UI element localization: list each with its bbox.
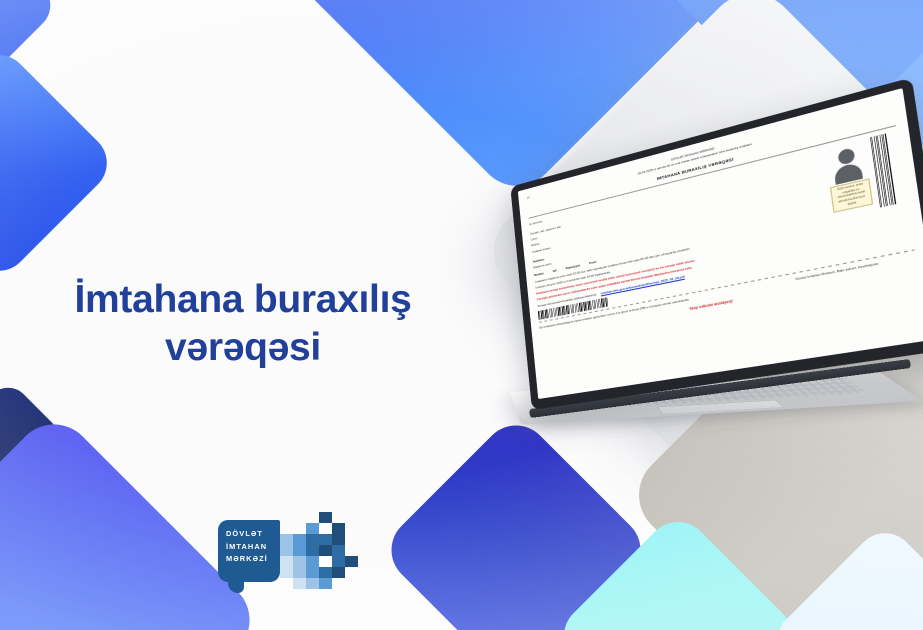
logo-line-3: MƏRKƏZİ	[226, 553, 268, 566]
logo-mosaic-cell	[306, 578, 319, 589]
laptop-mockup: 1/1 DÖVLƏT İMTAHAN MƏRKƏZİ 29.06.2025-ci…	[512, 178, 923, 478]
logo-mosaic-cell	[293, 534, 306, 545]
logo-text: DÖVLƏT İMTAHAN MƏRKƏZİ	[226, 528, 268, 566]
logo-line-1: DÖVLƏT	[226, 528, 268, 541]
headline-line-1: İmtahana buraxılış	[74, 278, 411, 321]
logo-mosaic-cell	[332, 567, 345, 578]
person-head-shape	[837, 147, 855, 165]
logo-mosaic-cell	[345, 556, 358, 567]
logo-mosaic-cell	[319, 523, 332, 534]
decorative-diamond-left	[0, 43, 119, 283]
column-header: Fənn	[589, 259, 597, 265]
dim-logo: DÖVLƏT İMTAHAN MƏRKƏZİ	[218, 512, 368, 592]
document-photo-column: Əlavə olunacaq foto Ciddi nəzarət, audio…	[824, 130, 914, 261]
logo-mosaic-cell	[306, 556, 319, 567]
logo-mosaic-cell	[306, 523, 319, 534]
logo-mosaic-cell	[280, 545, 293, 556]
logo-mosaic-cell	[280, 534, 293, 545]
headline-line-2: vərəqəsi	[28, 324, 458, 372]
column-header: Dil	[553, 268, 557, 273]
logo-mosaic-cell	[332, 545, 345, 556]
logo-mosaic-cell	[319, 534, 332, 545]
logo-pixel-mosaic	[280, 512, 366, 592]
logo-mosaic-cell	[280, 567, 293, 578]
logo-mosaic-cell	[319, 578, 332, 589]
logo-mosaic-cell	[293, 545, 306, 556]
logo-mosaic-cell	[332, 534, 345, 545]
logo-mosaic-cell	[319, 545, 332, 556]
poster-headline: İmtahana buraxılış vərəqəsi	[28, 276, 458, 373]
column-header: Riyaziyyat	[565, 263, 580, 271]
logo-mosaic-cell	[319, 556, 332, 567]
logo-mosaic-cell	[319, 567, 332, 578]
logo-mosaic-cell	[280, 556, 293, 567]
logo-mosaic-cell	[306, 567, 319, 578]
column-header: Bloklar	[534, 271, 544, 278]
logo-mosaic-cell	[332, 523, 345, 534]
logo-line-2: İMTAHAN	[226, 541, 268, 554]
logo-mosaic-cell	[319, 512, 332, 523]
poster-canvas: İmtahana buraxılış vərəqəsi DÖVLƏT İMTAH…	[0, 0, 923, 630]
logo-mosaic-cell	[306, 545, 319, 556]
logo-mosaic-cell	[293, 578, 306, 589]
logo-mosaic-cell	[293, 556, 306, 567]
logo-mosaic-cell	[293, 567, 306, 578]
logo-mosaic-cell	[306, 534, 319, 545]
logo-mosaic-cell	[332, 556, 345, 567]
